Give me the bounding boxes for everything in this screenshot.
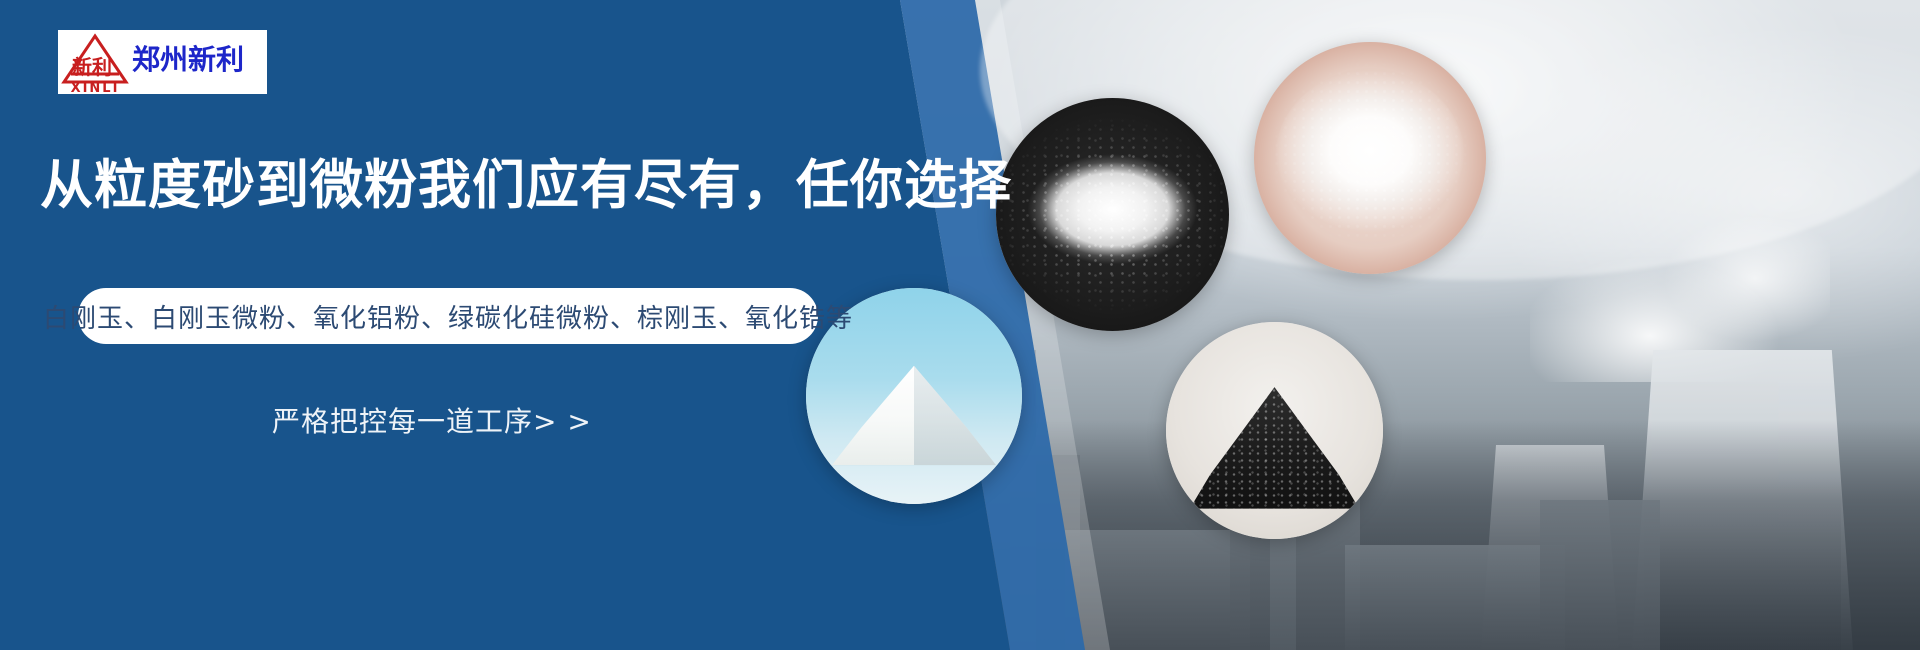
building-block [1345,545,1565,650]
company-name: 郑州新利 [132,46,244,78]
logo-mark-text: 新利 [72,55,112,79]
product-photo-backdrop [1254,42,1486,274]
grain-texture [996,98,1229,331]
product-photo-backdrop [996,98,1229,331]
product-photo-backdrop [1166,322,1383,539]
promo-banner: 新利 XINLI 郑州新利 从粒度砂到微粉我们应有尽有，任你选择 白刚玉、白刚玉… [0,0,1920,650]
headline: 从粒度砂到微粉我们应有尽有，任你选择 [40,143,1012,219]
cta-link[interactable]: 严格把控每一道工序> > [272,400,592,440]
product-image-white-powder-dish [1254,42,1486,274]
product-list-pill: 白刚玉、白刚玉微粉、氧化铝粉、绿碳化硅微粉、棕刚玉、氧化锆等 [78,288,818,344]
building-block [1540,500,1660,650]
product-image-black-grit-light [1166,322,1383,539]
logo-mark-subtext: XINLI [71,81,120,94]
grain-texture [1190,387,1359,509]
xinli-triangle-icon: 新利 XINLI [58,30,132,94]
company-logo[interactable]: 新利 XINLI 郑州新利 [58,30,267,94]
product-list-text: 白刚玉、白刚玉微粉、氧化铝粉、绿碳化硅微粉、棕刚玉、氧化锆等 [43,298,853,335]
grain-texture [1254,42,1486,274]
product-image-white-grit-on-dark [996,98,1229,331]
